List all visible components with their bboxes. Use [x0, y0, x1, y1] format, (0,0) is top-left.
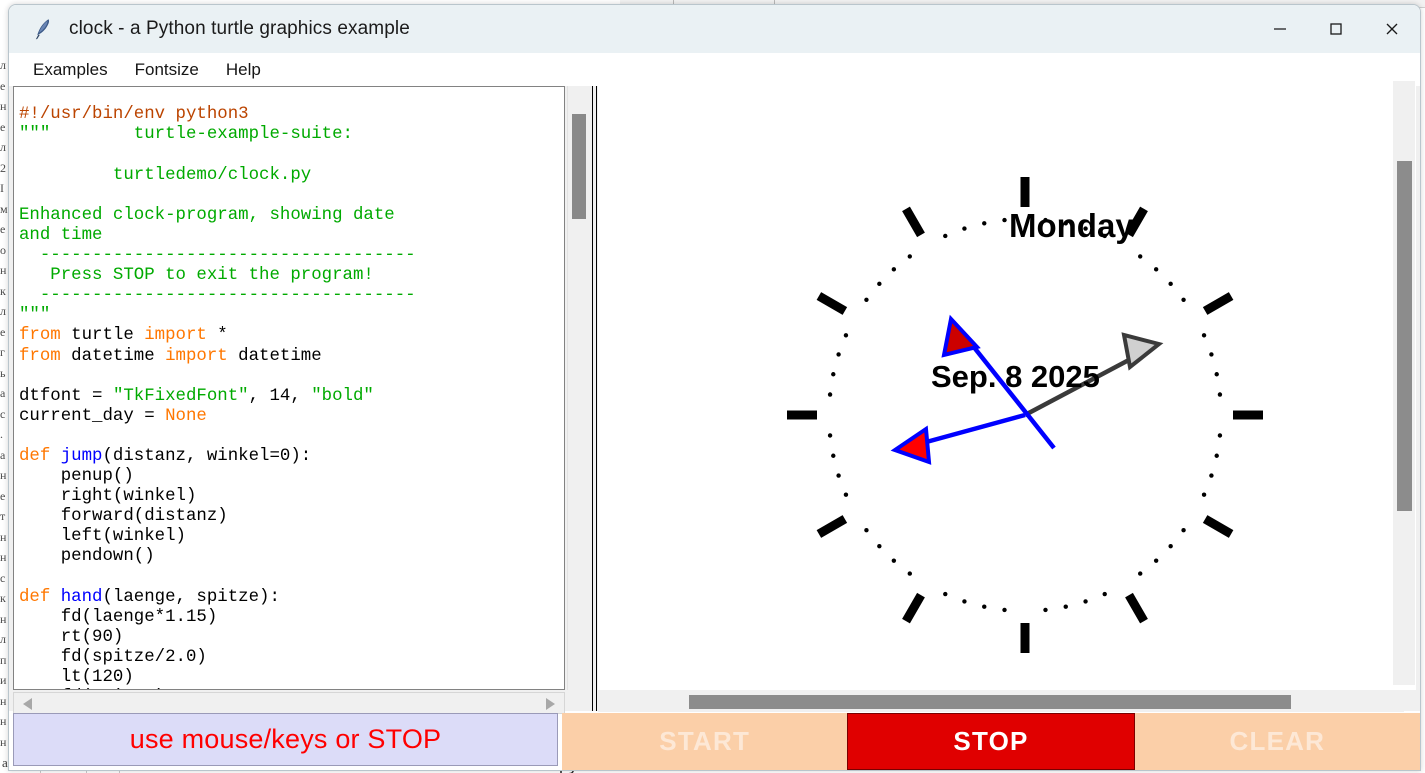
minute-dot — [982, 605, 986, 609]
minute-dot — [1168, 544, 1172, 548]
menu-item-fontsize[interactable]: Fontsize — [124, 57, 210, 83]
menu-item-examples[interactable]: Examples — [22, 57, 119, 83]
maximize-button[interactable] — [1308, 5, 1364, 53]
minute-dot — [1168, 282, 1172, 286]
window-titlebar: clock - a Python turtle graphics example — [9, 5, 1420, 53]
minute-dot — [892, 558, 896, 562]
hour-mark — [1129, 595, 1144, 621]
editor-vertical-scrollbar[interactable] — [567, 86, 589, 690]
minute-dot — [836, 352, 840, 356]
minute-dot — [1002, 218, 1006, 222]
minute-dot — [982, 221, 986, 225]
minute-dot — [943, 592, 947, 596]
minute-dot — [1002, 608, 1006, 612]
hour-mark — [906, 595, 921, 621]
hour-mark — [1205, 519, 1231, 534]
minute-dot — [864, 528, 868, 532]
minute-dot — [1154, 267, 1158, 271]
minute-dot — [831, 454, 835, 458]
minute-dot — [877, 282, 881, 286]
window-controls — [1252, 5, 1420, 53]
minute-dot — [962, 226, 966, 230]
hour-mark — [1205, 296, 1231, 311]
stop-button[interactable]: STOP — [847, 713, 1134, 770]
clear-button[interactable]: CLEAR — [1135, 713, 1420, 770]
canvas-vertical-scrollbar-thumb[interactable] — [1397, 161, 1412, 511]
minute-dot — [1202, 333, 1206, 337]
scroll-left-arrow-icon[interactable] — [23, 698, 32, 710]
code-text: #!/usr/bin/env python3 """ turtle-exampl… — [19, 105, 564, 690]
minute-dot — [892, 267, 896, 271]
minute-dot — [1154, 558, 1158, 562]
clock-drawing: Monday Sep. 8 2025 — [599, 87, 1416, 690]
code-editor[interactable]: #!/usr/bin/env python3 """ turtle-exampl… — [13, 86, 565, 690]
hour-mark — [906, 209, 921, 235]
turtle-canvas[interactable]: Monday Sep. 8 2025 — [598, 86, 1416, 690]
menu-item-help[interactable]: Help — [215, 57, 272, 83]
minute-dot — [1043, 608, 1047, 612]
canvas-vertical-scrollbar[interactable] — [1393, 81, 1415, 685]
minute-dot — [962, 599, 966, 603]
minimize-button[interactable] — [1252, 5, 1308, 53]
minute-dot — [1138, 571, 1142, 575]
python-feather-icon — [31, 16, 57, 42]
close-icon — [1384, 21, 1400, 37]
status-bar: use mouse/keys or STOP — [13, 713, 558, 766]
hour-mark — [819, 519, 845, 534]
start-button[interactable]: START — [562, 713, 847, 770]
minute-dot — [1215, 372, 1219, 376]
minute-dot — [1064, 605, 1068, 609]
minute-dot — [877, 544, 881, 548]
split-panes: #!/usr/bin/env python3 """ turtle-exampl… — [9, 86, 1420, 711]
minute-dot — [1083, 599, 1087, 603]
editor-horizontal-scrollbar[interactable] — [13, 692, 565, 714]
minute-dot — [943, 234, 947, 238]
minute-dot — [1181, 528, 1185, 532]
minute-dot — [1218, 433, 1222, 437]
hour-mark — [819, 296, 845, 311]
clock-date-label: Sep. 8 2025 — [931, 359, 1100, 394]
minute-dot — [1138, 254, 1142, 258]
menubar: Examples Fontsize Help — [9, 53, 1420, 87]
maximize-icon — [1328, 21, 1344, 37]
minute-dot — [1202, 493, 1206, 497]
minute-dot — [1181, 298, 1185, 302]
editor-vertical-scrollbar-thumb[interactable] — [572, 114, 586, 219]
scroll-right-arrow-icon[interactable] — [546, 698, 555, 710]
minute-dot — [828, 433, 832, 437]
minute-dot — [864, 298, 868, 302]
minute-dot — [1215, 454, 1219, 458]
minute-dot — [844, 493, 848, 497]
bottom-bar: use mouse/keys or STOP START STOP CLEAR — [9, 713, 1420, 770]
minute-dot — [844, 333, 848, 337]
minute-dot — [836, 473, 840, 477]
minute-dot — [828, 392, 832, 396]
turtle-demo-window: clock - a Python turtle graphics example — [8, 4, 1421, 771]
status-text: use mouse/keys or STOP — [130, 724, 442, 755]
minute-dot — [908, 254, 912, 258]
minute-hand — [895, 415, 1025, 462]
minute-dot — [1209, 352, 1213, 356]
clock-day-label: Monday — [1009, 207, 1134, 244]
window-title: clock - a Python turtle graphics example — [69, 18, 410, 40]
minute-dot — [1103, 592, 1107, 596]
close-button[interactable] — [1364, 5, 1420, 53]
minute-dot — [908, 571, 912, 575]
minute-dot — [1209, 473, 1213, 477]
canvas-horizontal-scrollbar[interactable] — [598, 692, 1404, 712]
canvas-horizontal-scrollbar-thumb[interactable] — [689, 695, 1291, 709]
minimize-icon — [1272, 21, 1288, 37]
control-button-row: START STOP CLEAR — [562, 713, 1420, 770]
minute-dot — [831, 372, 835, 376]
minute-dot — [1218, 392, 1222, 396]
